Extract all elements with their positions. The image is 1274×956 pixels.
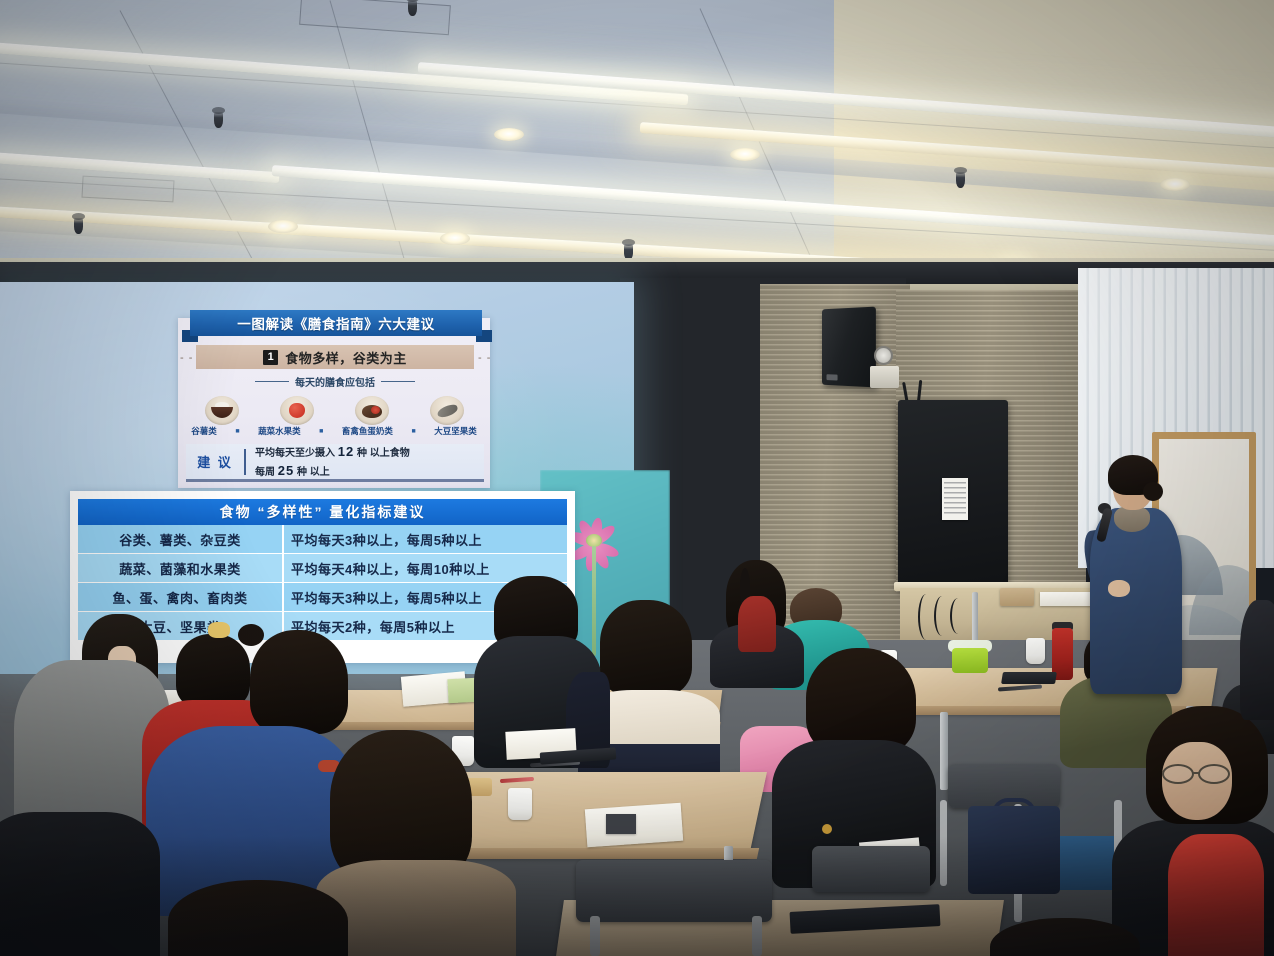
food-group-label-0: 谷薯类: [191, 425, 217, 437]
glasses-icon: [1198, 764, 1230, 784]
chair[interactable]: [812, 846, 930, 892]
notice-text-lines: [944, 482, 966, 516]
meat-icon: [355, 396, 389, 425]
ceiling: [0, 0, 1274, 300]
table-row: 谷类、薯类、杂豆类 平均每天3种以上，每周5种以上: [78, 525, 567, 554]
sprinkler-head: [956, 172, 965, 188]
hair-bun: [238, 624, 264, 646]
cable: [950, 598, 966, 634]
wall-clock-icon: [874, 346, 893, 365]
hair: [600, 600, 692, 696]
separator-icon: ■: [411, 428, 415, 435]
coat-button: [822, 824, 832, 834]
glasses-icon: [1162, 764, 1194, 784]
sprinkler-head: [408, 0, 417, 16]
nuts-icon: [430, 396, 464, 425]
glasses-bridge: [1192, 772, 1200, 774]
chair-frame: [940, 800, 947, 886]
desk-box: [1000, 588, 1034, 606]
paper-notice: [942, 478, 968, 520]
food-group-label-3: 大豆坚果类: [434, 425, 477, 437]
section-number-badge: 1: [263, 350, 278, 365]
red-garment: [738, 596, 776, 652]
table-header: 食物 “多样性” 量化指标建议: [78, 499, 567, 525]
advice-line-1: 平均每天至少摄入 12 种 以上食物: [255, 443, 410, 462]
chair-leg: [752, 916, 762, 956]
red-top: [1168, 834, 1264, 956]
slide-section-row: 1 食物多样，谷类为主: [196, 345, 474, 369]
table-cell-category: 鱼、蛋、禽肉、畜肉类: [78, 583, 284, 611]
sprinkler-head: [214, 112, 223, 128]
wall-speaker: [822, 307, 876, 388]
table-cell-category: 谷类、薯类、杂豆类: [78, 525, 284, 553]
slide-subtitle: 每天的膳食应包括: [295, 374, 375, 389]
wall-control-plate[interactable]: [870, 366, 899, 388]
rule-left: [255, 381, 289, 382]
ceiling-vent: [81, 176, 174, 203]
navy-laptop-bag: [968, 806, 1060, 894]
separator-icon: ■: [319, 428, 323, 435]
presenter-hand: [1108, 580, 1130, 597]
cable: [918, 594, 934, 640]
downlight: [494, 128, 524, 141]
hair-clip: [208, 622, 230, 638]
downlight: [1160, 178, 1190, 191]
room-photo-scene: 一图解读《膳食指南》六大建议 - - - - 1 食物多样，谷类为主 每天的膳食…: [0, 0, 1274, 956]
paper-cup: [1026, 638, 1045, 664]
paper-cup: [508, 788, 532, 820]
slide-subtitle-row: 每天的膳食应包括: [196, 374, 474, 389]
flower-stem: [592, 546, 596, 656]
hair: [176, 634, 250, 708]
dash-left: - -: [180, 352, 196, 361]
section-title: 食物多样，谷类为主: [285, 348, 407, 367]
table-leg: [940, 712, 948, 790]
dark-coat: [0, 812, 160, 956]
green-lunch-box: [952, 648, 988, 673]
table-cell-category: 蔬菜、菌藻和水果类: [78, 554, 284, 582]
food-group-icons: [184, 392, 484, 428]
dark-garment: [1240, 600, 1274, 720]
booklet-photo: [606, 814, 636, 834]
rice-bowl-icon: [205, 396, 239, 425]
table-row: 蔬菜、菌藻和水果类 平均每天4种以上，每周10种以上: [78, 554, 567, 583]
advice-text: 平均每天至少摄入 12 种 以上食物 每周 25 种 以上: [246, 443, 410, 481]
downlight: [730, 148, 760, 161]
chair[interactable]: [576, 860, 772, 922]
advice-line-2: 每周 25 种 以上: [255, 462, 410, 481]
apple-icon: [280, 396, 314, 425]
dash-right: - -: [478, 352, 494, 361]
sprinkler-head: [74, 218, 83, 234]
advice-tag: 建 议: [186, 452, 244, 471]
speaker-badge: [827, 374, 838, 380]
food-group-labels: 谷薯类 ■ 蔬菜水果类 ■ 畜禽鱼蛋奶类 ■ 大豆坚果类: [182, 425, 486, 437]
chair-leg: [590, 916, 600, 956]
ceiling-vent: [299, 0, 451, 35]
desk-paper: [1040, 592, 1092, 606]
separator-icon: ■: [235, 428, 239, 435]
cable: [934, 596, 950, 636]
table-cell-target: 平均每天3种以上，每周5种以上: [284, 525, 567, 553]
food-group-label-2: 畜禽鱼蛋奶类: [342, 425, 393, 437]
desk-item: [1001, 672, 1057, 684]
downlight: [268, 220, 298, 233]
rule-right: [381, 381, 415, 382]
hair: [250, 630, 348, 734]
presenter-hair-bun: [1143, 482, 1163, 501]
food-group-label-1: 蔬菜水果类: [258, 425, 301, 437]
advice-box: 建 议 平均每天至少摄入 12 种 以上食物 每周 25 种 以上: [186, 444, 484, 482]
downlight: [440, 232, 470, 245]
slide-banner-title: 一图解读《膳食指南》六大建议: [190, 310, 482, 336]
hair: [168, 880, 348, 956]
